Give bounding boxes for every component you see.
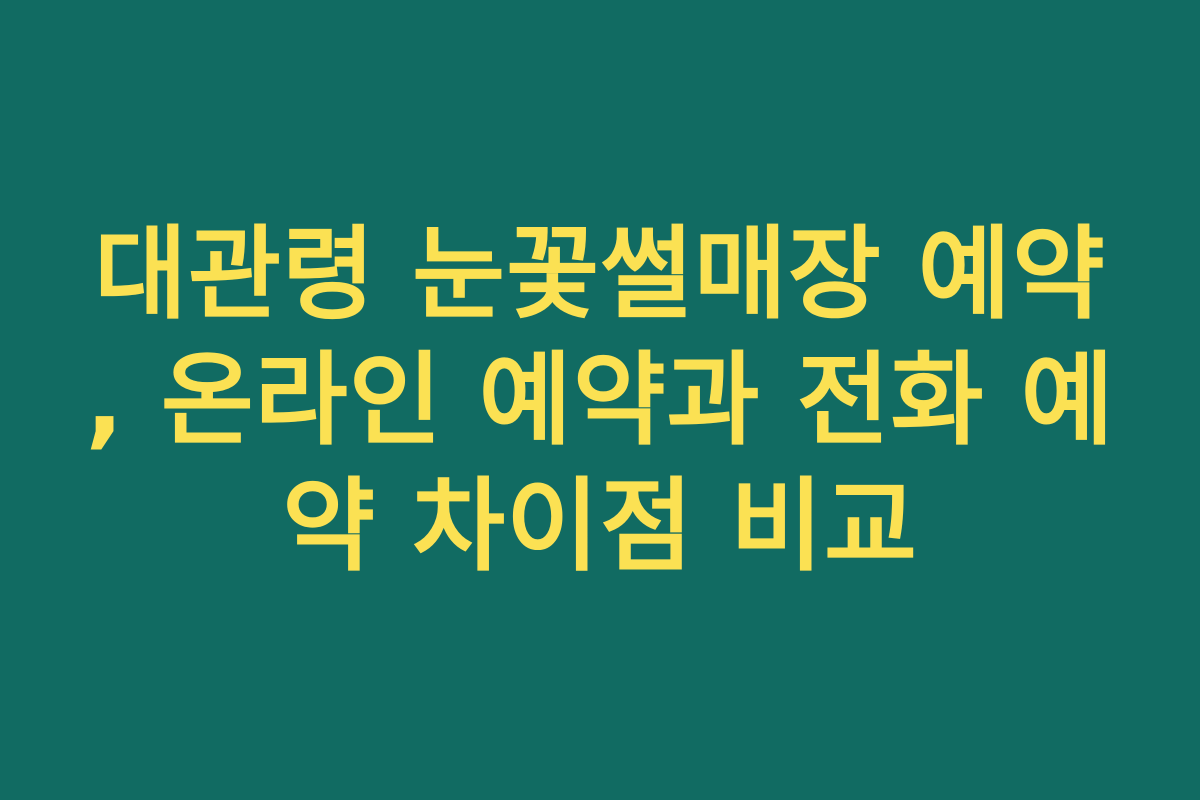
title-card: 대관령 눈꽃썰매장 예약 , 온라인 예약과 전화 예 약 차이점 비교 — [0, 0, 1200, 800]
headline-line-1: 대관령 눈꽃썰매장 예약 — [80, 211, 1120, 337]
headline-line-2: , 온라인 예약과 전화 예 — [80, 337, 1120, 463]
headline-line-3: 약 차이점 비교 — [80, 463, 1120, 589]
headline-block: 대관령 눈꽃썰매장 예약 , 온라인 예약과 전화 예 약 차이점 비교 — [80, 211, 1120, 589]
